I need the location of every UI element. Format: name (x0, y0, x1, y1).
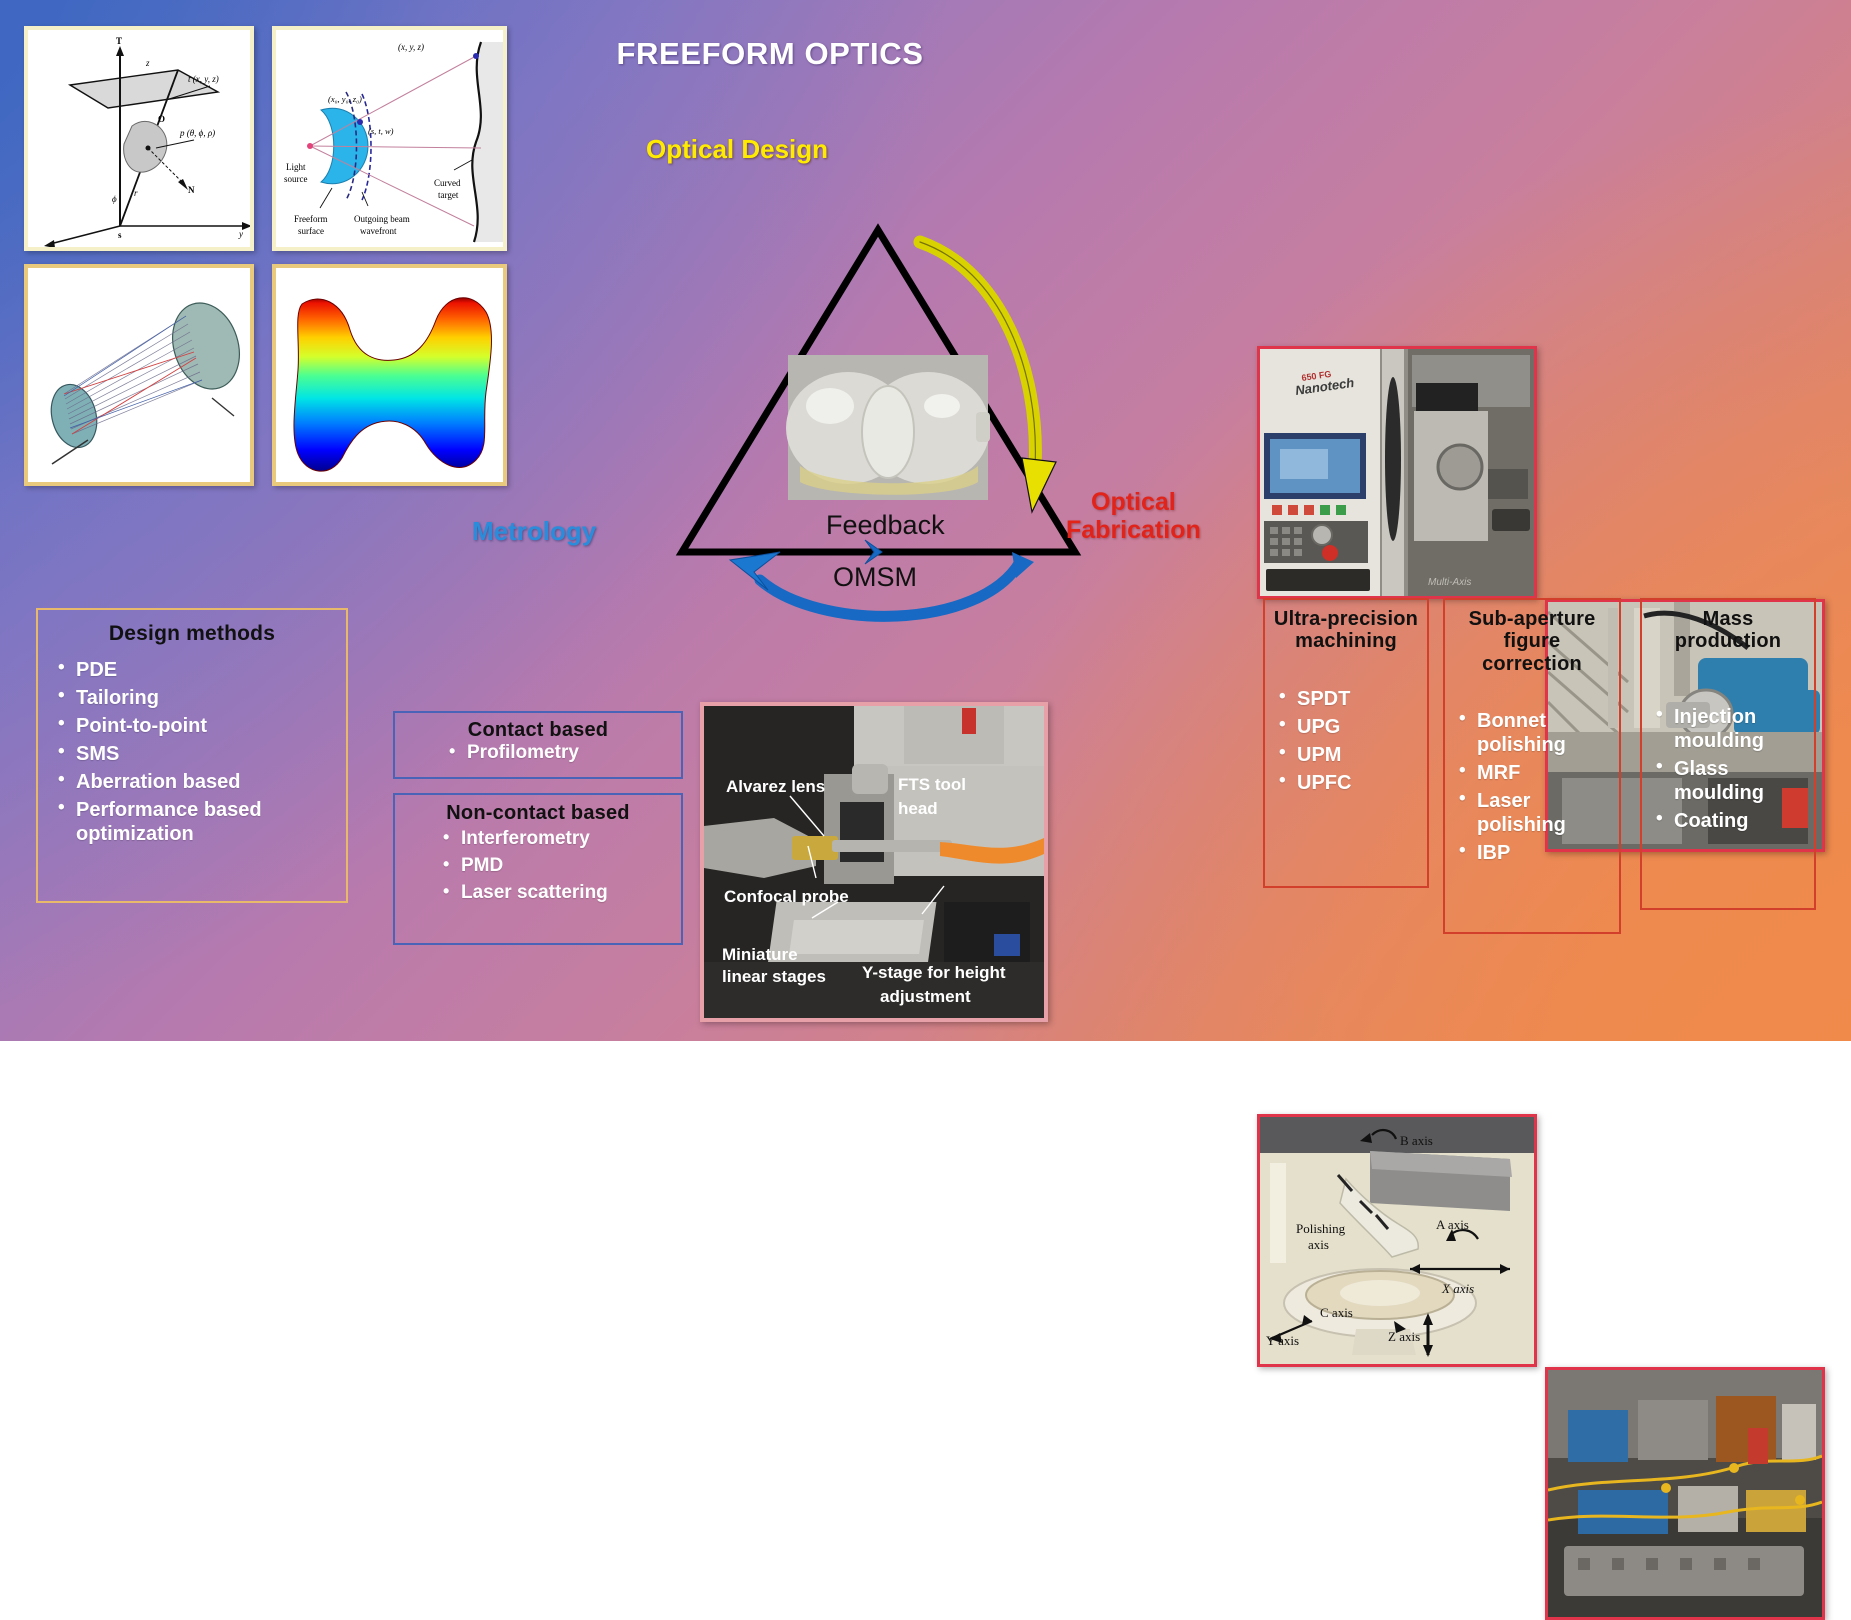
svg-text:ϕ: ϕ (112, 194, 117, 204)
design-methods-box: Design methods PDE Tailoring Point-to-po… (36, 608, 348, 903)
figure-freeform-surface-sag-map (272, 264, 507, 486)
list-item: PDE (50, 658, 334, 682)
figure-freeform-illumination-diagram: (x, y, z) (x₀, y₀, z₀) (s, t, w) Light s… (272, 26, 507, 251)
mass-production-list: Injection moulding Glass moulding Coatin… (1648, 705, 1808, 833)
svg-text:z: z (145, 58, 150, 68)
svg-text:T: T (116, 36, 122, 46)
feedback-label: Feedback (826, 510, 945, 541)
optical-fabrication-line1: Optical (1066, 488, 1201, 516)
list-item: Laser scattering (435, 882, 671, 905)
non-contact-based-box: Non-contact based Interferometry PMD Las… (393, 793, 683, 945)
mass-production-title: Mass production (1648, 608, 1808, 653)
svg-text:r: r (134, 188, 138, 198)
svg-text:Multi-Axis: Multi-Axis (1428, 577, 1471, 588)
list-item: IBP (1451, 841, 1613, 865)
svg-text:FTS tool: FTS tool (898, 775, 966, 794)
svg-text:N: N (188, 185, 195, 195)
svg-text:(x₀, y₀, z₀): (x₀, y₀, z₀) (328, 94, 362, 104)
list-item: Glass moulding (1648, 757, 1808, 805)
svg-text:A axis: A axis (1436, 1217, 1469, 1232)
poster-canvas: FREEFORM OPTICS T z y x N t (x, y, (0, 0, 1851, 1041)
non-contact-based-list: Interferometry PMD Laser scattering (435, 828, 671, 904)
triangle-left-label: Metrology (472, 516, 596, 547)
svg-text:adjustment: adjustment (880, 987, 971, 1006)
svg-text:linear stages: linear stages (722, 967, 826, 986)
svg-text:(x, y, z): (x, y, z) (398, 42, 424, 52)
list-item: PMD (435, 855, 671, 878)
figure-two-mirror-raytrace-diagram (24, 264, 254, 486)
mass-production-box: Mass production Injection moulding Glass… (1640, 598, 1816, 910)
svg-text:Miniature: Miniature (722, 945, 798, 964)
raytrace-svg (28, 268, 254, 486)
list-item: Profilometry (441, 742, 671, 765)
svg-text:t (x, y, z): t (x, y, z) (188, 74, 219, 84)
list-item: Performance based optimization (50, 798, 334, 846)
svg-text:Z axis: Z axis (1388, 1329, 1420, 1344)
list-item: Coating (1648, 809, 1808, 833)
svg-text:Y axis: Y axis (1266, 1333, 1299, 1348)
omsm-rig-svg: Alvarez lens FTS tool head Confocal prob… (704, 706, 1044, 1018)
contact-based-list: Profilometry (441, 742, 671, 765)
list-item: MRF (1451, 761, 1613, 785)
sub-aperture-figure-correction-list: Bonnet polishing MRF Laser polishing IBP (1451, 709, 1613, 865)
bsdf-coordinate-svg: T z y x N t (x, y, z) p (θ, ϕ, ρ) O ϕ r (28, 30, 254, 251)
figure-bsdf-coordinate-diagram: T z y x N t (x, y, z) p (θ, ϕ, ρ) O ϕ r (24, 26, 254, 251)
list-item: UPG (1271, 715, 1421, 739)
photo-robotic-polishing-machine: B axis A axis Polishing axis X axis C ax… (1257, 1114, 1537, 1367)
page-title-text: FREEFORM OPTICS (560, 36, 980, 72)
list-item: SPDT (1271, 687, 1421, 711)
list-item: Injection moulding (1648, 705, 1808, 753)
sag-map-svg (276, 268, 507, 486)
contact-based-box: Contact based Profilometry (393, 711, 683, 779)
ultra-precision-machining-box: Ultra-precision machining SPDT UPG UPM U… (1263, 598, 1429, 888)
triangle-right-label: Optical Fabrication (1066, 488, 1201, 544)
svg-text:B axis: B axis (1400, 1133, 1433, 1148)
sub-aperture-figure-correction-box: Sub-aperture figure correction Bonnet po… (1443, 598, 1621, 934)
svg-text:X axis: X axis (1441, 1281, 1474, 1296)
svg-text:y: y (238, 229, 243, 239)
list-item: Bonnet polishing (1451, 709, 1613, 757)
list-item: Tailoring (50, 686, 334, 710)
svg-text:p (θ, ϕ, ρ): p (θ, ϕ, ρ) (179, 128, 215, 138)
non-contact-based-title: Non-contact based (405, 802, 671, 824)
svg-text:axis: axis (1308, 1237, 1329, 1252)
svg-text:C axis: C axis (1320, 1305, 1353, 1320)
svg-text:target: target (438, 190, 459, 200)
contact-based-title: Contact based (405, 719, 671, 741)
design-methods-list: PDE Tailoring Point-to-point SMS Aberrat… (50, 658, 334, 846)
list-item: SMS (50, 742, 334, 766)
list-item: Interferometry (435, 828, 671, 851)
triangle-top-label: Optical Design (646, 134, 828, 165)
omsm-label: OMSM (833, 562, 917, 593)
photo-laser-polishing-optics-bench (1545, 1367, 1825, 1620)
svg-text:Outgoing beam: Outgoing beam (354, 214, 410, 224)
svg-text:head: head (898, 799, 938, 818)
svg-text:source: source (284, 174, 308, 184)
list-item: Laser polishing (1451, 789, 1613, 837)
omsm-triangle-diagram: Optical Design Metrology Optical Fabrica… (620, 200, 1210, 650)
svg-text:Y-stage for height: Y-stage for height (862, 963, 1006, 982)
svg-text:Curved: Curved (434, 178, 461, 188)
list-item: Aberration based (50, 770, 334, 794)
list-item: Point-to-point (50, 714, 334, 738)
svg-text:Freeform: Freeform (294, 214, 328, 224)
svg-text:wavefront: wavefront (360, 226, 397, 236)
machine-tl-svg: Nanotech 650 FG (1260, 349, 1534, 596)
page-title: FREEFORM OPTICS (560, 36, 980, 72)
list-item: UPFC (1271, 771, 1421, 795)
svg-text:(s, t, w): (s, t, w) (368, 126, 394, 136)
svg-text:Confocal probe: Confocal probe (724, 887, 849, 906)
ultra-precision-machining-list: SPDT UPG UPM UPFC (1271, 687, 1421, 795)
photo-nanotech-diamond-turning-machine: Nanotech 650 FG (1257, 346, 1537, 599)
svg-text:Light: Light (286, 162, 306, 172)
ultra-precision-machining-title: Ultra-precision machining (1271, 608, 1421, 653)
svg-text:x: x (43, 246, 48, 251)
svg-text:s: s (118, 230, 122, 240)
optical-fabrication-line2: Fabrication (1066, 516, 1201, 544)
freeform-illumination-svg: (x, y, z) (x₀, y₀, z₀) (s, t, w) Light s… (276, 30, 507, 251)
svg-text:surface: surface (298, 226, 324, 236)
svg-text:O: O (158, 114, 165, 124)
design-methods-title: Design methods (50, 622, 334, 646)
list-item: UPM (1271, 743, 1421, 767)
svg-text:Polishing: Polishing (1296, 1221, 1346, 1236)
svg-text:Alvarez lens: Alvarez lens (726, 777, 825, 796)
machine-ml-svg: B axis A axis Polishing axis X axis C ax… (1260, 1117, 1534, 1364)
photo-on-machine-measurement-setup: Alvarez lens FTS tool head Confocal prob… (700, 702, 1048, 1022)
machine-mr-svg (1548, 1370, 1822, 1617)
sub-aperture-figure-correction-title: Sub-aperture figure correction (1451, 608, 1613, 675)
